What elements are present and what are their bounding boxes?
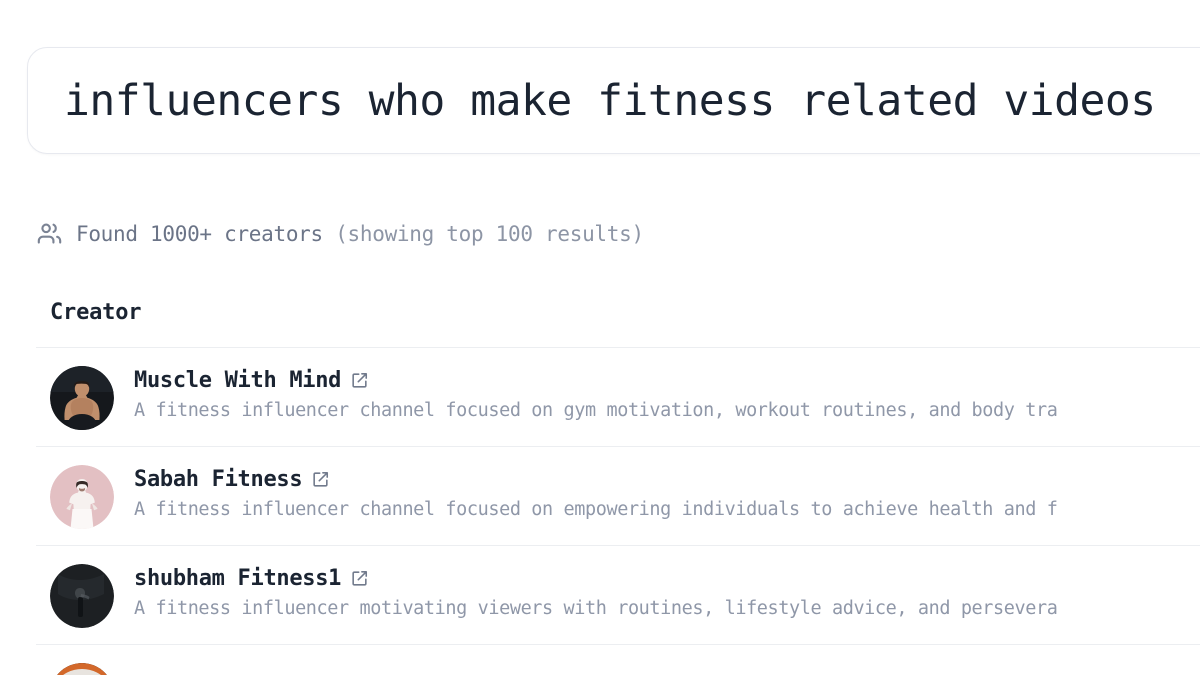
avatar: [50, 663, 114, 675]
search-bar-container: [27, 47, 1200, 154]
table-row[interactable]: Muscle With Mind A fitness influencer ch…: [36, 348, 1200, 446]
external-link-icon[interactable]: [350, 569, 369, 588]
results-summary: Found 1000+ creators (showing top 100 re…: [36, 220, 644, 247]
search-input[interactable]: [64, 76, 1200, 126]
table-row[interactable]: shubham Fitness1 A fitness influencer mo…: [36, 546, 1200, 644]
table-row[interactable]: [36, 645, 1200, 675]
avatar: [50, 366, 114, 430]
creator-description: A fitness influencer channel focused on …: [134, 400, 1200, 421]
external-link-icon[interactable]: [311, 470, 330, 489]
users-icon: [36, 220, 63, 247]
table-row[interactable]: Sabah Fitness A fitness influencer chann…: [36, 447, 1200, 545]
creator-description: A fitness influencer motivating viewers …: [134, 598, 1200, 619]
creator-link[interactable]: Sabah Fitness: [134, 467, 1200, 492]
found-label: Found 1000+ creators: [76, 222, 323, 246]
creator-description: A fitness influencer channel focused on …: [134, 499, 1200, 520]
creator-name: Muscle With Mind: [134, 368, 341, 393]
avatar: [50, 564, 114, 628]
external-link-icon[interactable]: [350, 371, 369, 390]
creator-results-table: Creator Muscle With Mind: [36, 300, 1200, 675]
search-bar[interactable]: [27, 47, 1200, 154]
column-header-creator: Creator: [36, 300, 1200, 347]
creator-name: Sabah Fitness: [134, 467, 302, 492]
row-content: Sabah Fitness A fitness influencer chann…: [134, 463, 1200, 520]
results-count-text: Found 1000+ creators (showing top 100 re…: [76, 222, 644, 246]
row-content: [134, 661, 1200, 672]
showing-label: (showing top 100 results): [335, 222, 644, 246]
creator-link[interactable]: shubham Fitness1: [134, 566, 1200, 591]
row-content: Muscle With Mind A fitness influencer ch…: [134, 364, 1200, 421]
creator-name: shubham Fitness1: [134, 566, 341, 591]
avatar: [50, 465, 114, 529]
creator-link[interactable]: Muscle With Mind: [134, 368, 1200, 393]
creator-search-page: Found 1000+ creators (showing top 100 re…: [0, 0, 1200, 675]
row-content: shubham Fitness1 A fitness influencer mo…: [134, 562, 1200, 619]
